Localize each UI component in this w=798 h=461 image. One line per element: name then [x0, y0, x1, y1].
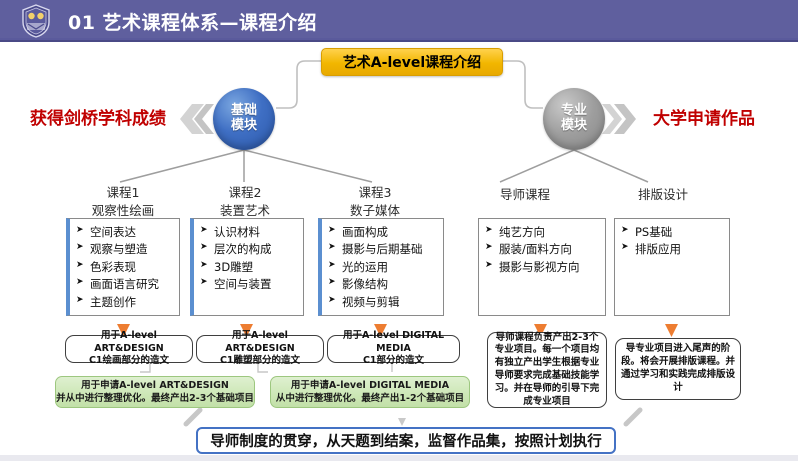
list-item: 影像结构	[328, 276, 439, 293]
basic-module-line1: 基础	[231, 104, 257, 119]
callout-layout-text: 导专业项目进入尾声的阶段。将会开展排版课程。并通过学习和实践完成排版设计	[621, 343, 735, 394]
list-item: 认识材料	[200, 224, 299, 241]
callout-3-line1: 用于A-level DIGITAL MEDIA	[328, 330, 459, 356]
course-3-index: 课程3	[322, 184, 428, 202]
basic-module-line2: 模块	[231, 119, 257, 134]
list-item: 摄影与影视方向	[485, 259, 601, 276]
callout-course-1: 用于A-level ART&DESIGN C1绘画部分的造文	[65, 335, 193, 363]
list-item: 主题创作	[76, 294, 175, 311]
layout-design-name: 排版设计	[608, 186, 718, 204]
course-1-list: 空间表达 观察与塑造 色彩表现 画面语言研究 主题创作	[66, 218, 180, 316]
green-box-2-line2: 从中进行整理优化。最终产出1-2个基础项目	[276, 392, 464, 405]
course-intro-pill-label: 艺术A-level课程介绍	[343, 52, 481, 72]
bottom-banner: 导师制度的贯穿，从天题到结案，监督作品集，按照计划执行	[196, 427, 616, 454]
page-title: 01 艺术课程体系—课程介绍	[68, 8, 317, 35]
list-item: 3D雕塑	[200, 259, 299, 276]
double-chevron-left-icon	[170, 102, 214, 136]
list-item: 光的运用	[328, 259, 439, 276]
list-item: 观察与塑造	[76, 241, 175, 258]
mentor-course-name: 导师课程	[470, 186, 580, 204]
green-box-2-line1: 用于申请A-level DIGITAL MEDIA	[276, 379, 464, 392]
course-2-index: 课程2	[192, 184, 298, 202]
course-1-index: 课程1	[70, 184, 176, 202]
list-item: 层次的构成	[200, 241, 299, 258]
callout-2-line2: C1雕塑部分的造文	[197, 355, 323, 368]
green-box-art-design: 用于申请A-level ART&DESIGN 并从中进行整理优化。最终产出2-3…	[55, 376, 255, 408]
professional-module-line2: 模块	[561, 119, 587, 134]
callout-course-2: 用于A-level ART&DESIGN C1雕塑部分的造文	[196, 335, 324, 363]
list-item: 服装/面料方向	[485, 241, 601, 258]
course-1-title: 课程1 观察性绘画	[70, 184, 176, 220]
callout-1-line1: 用于A-level ART&DESIGN	[66, 330, 192, 356]
school-crest-icon	[18, 3, 54, 39]
green-box-1-line1: 用于申请A-level ART&DESIGN	[56, 379, 254, 392]
footer-divider	[0, 455, 798, 461]
list-item: 空间与装置	[200, 276, 299, 293]
callout-course-3: 用于A-level DIGITAL MEDIA C1部分的造文	[327, 335, 460, 363]
left-outcome-label: 获得剑桥学科成绩	[30, 104, 166, 129]
professional-module-circle[interactable]: 专业 模块	[543, 88, 605, 150]
callout-1-line2: C1绘画部分的造文	[66, 355, 192, 368]
course-3-title: 课程3 数子媒体	[322, 184, 428, 220]
list-item: 画面构成	[328, 224, 439, 241]
list-item: 空间表达	[76, 224, 175, 241]
course-3-list: 画面构成 摄影与后期基础 光的运用 影像结构 视频与剪辑	[318, 218, 444, 316]
right-outcome-label: 大学申请作品	[653, 104, 755, 129]
list-item: 排版应用	[621, 241, 725, 258]
double-chevron-right-icon	[602, 102, 646, 136]
header-divider	[0, 40, 798, 42]
mentor-course-list: 纯艺方向 服装/面料方向 摄影与影视方向	[478, 218, 606, 316]
list-item: 色彩表现	[76, 259, 175, 276]
mentor-course-title: 导师课程	[470, 186, 580, 204]
professional-module-line1: 专业	[561, 104, 587, 119]
callout-layout: 导专业项目进入尾声的阶段。将会开展排版课程。并通过学习和实践完成排版设计	[615, 338, 741, 400]
bottom-banner-text: 导师制度的贯穿，从天题到结案，监督作品集，按照计划执行	[210, 430, 602, 451]
layout-design-title: 排版设计	[608, 186, 718, 204]
layout-design-list: PS基础 排版应用	[614, 218, 730, 316]
list-item: 纯艺方向	[485, 224, 601, 241]
list-item: 画面语言研究	[76, 276, 175, 293]
callout-mentor-text: 导师课程负责产出2-3个专业项目。每一个项目均有独立产出学生根据专业导师要求完成…	[493, 332, 601, 409]
list-item: PS基础	[621, 224, 725, 241]
down-arrow-icon	[665, 322, 678, 335]
callout-mentor: 导师课程负责产出2-3个专业项目。每一个项目均有独立产出学生根据专业导师要求完成…	[487, 332, 607, 408]
callout-3-line2: C1部分的造文	[328, 355, 459, 368]
list-item: 视频与剪辑	[328, 294, 439, 311]
course-2-list: 认识材料 层次的构成 3D雕塑 空间与装置	[190, 218, 304, 316]
callout-2-line1: 用于A-level ART&DESIGN	[197, 330, 323, 356]
course-2-title: 课程2 装置艺术	[192, 184, 298, 220]
basic-module-circle[interactable]: 基础 模块	[213, 88, 275, 150]
course-intro-pill[interactable]: 艺术A-level课程介绍	[321, 48, 503, 76]
list-item: 摄影与后期基础	[328, 241, 439, 258]
slide-header: 01 艺术课程体系—课程介绍	[0, 0, 798, 42]
green-box-digital-media: 用于申请A-level DIGITAL MEDIA 从中进行整理优化。最终产出1…	[270, 376, 470, 408]
slide-canvas: 01 艺术课程体系—课程介绍 艺术A-level课程介绍 获得剑桥学科成绩	[0, 0, 798, 461]
green-box-1-line2: 并从中进行整理优化。最终产出2-3个基础项目	[56, 392, 254, 405]
